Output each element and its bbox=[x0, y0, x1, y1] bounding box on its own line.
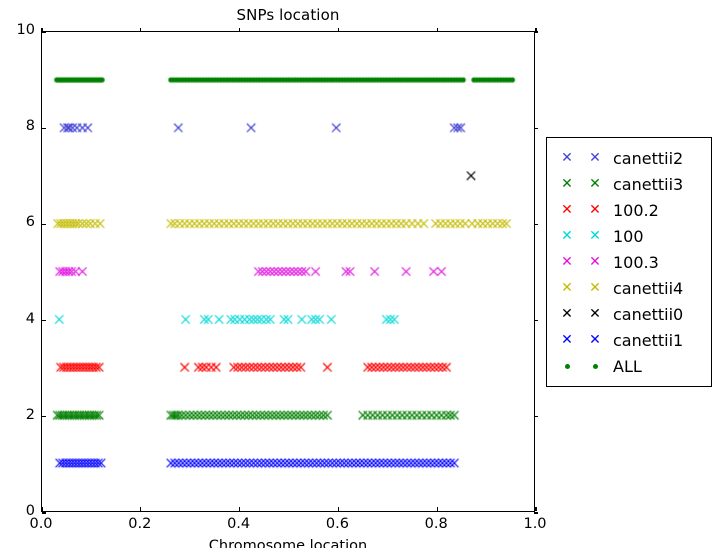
legend-item[interactable]: ✕✕100.2 bbox=[553, 197, 705, 223]
y-tick-label: 10 bbox=[1, 22, 35, 38]
x-tick-mark bbox=[535, 507, 536, 511]
legend-item[interactable]: ✕✕100.3 bbox=[553, 249, 705, 275]
x-tick-mark-top bbox=[41, 28, 42, 32]
y-tick-label: 2 bbox=[1, 407, 35, 423]
legend-cross-marker-icon: ✕ bbox=[589, 333, 601, 347]
x-tick-mark-top bbox=[535, 28, 536, 32]
y-tick-mark-right bbox=[534, 128, 538, 129]
y-tick-mark-right bbox=[534, 320, 538, 321]
x-tick-mark-top bbox=[437, 28, 438, 32]
legend-cross-marker-icon: ✕ bbox=[561, 151, 573, 165]
legend-item-label: canettii3 bbox=[609, 175, 683, 194]
legend-marker-group bbox=[553, 364, 609, 369]
legend-cross-marker-icon: ✕ bbox=[561, 229, 573, 243]
legend-item-label: 100 bbox=[609, 227, 644, 246]
legend-cross-marker-icon: ✕ bbox=[589, 177, 601, 191]
legend-cross-marker-icon: ✕ bbox=[561, 307, 573, 321]
legend-marker-group: ✕✕ bbox=[553, 177, 609, 191]
legend-marker-group: ✕✕ bbox=[553, 229, 609, 243]
x-tick-label: 1.0 bbox=[505, 516, 565, 532]
legend-cross-marker-icon: ✕ bbox=[589, 151, 601, 165]
x-tick-mark-top bbox=[140, 28, 141, 32]
legend-dot-marker-icon bbox=[565, 364, 570, 369]
figure-root: SNPs location 0246810 0.00.20.40.60.81.0… bbox=[0, 0, 718, 548]
legend-item[interactable]: ALL bbox=[553, 353, 705, 379]
y-tick-mark bbox=[42, 512, 46, 513]
legend-cross-marker-icon: ✕ bbox=[589, 307, 601, 321]
legend-box: ✕✕canettii2✕✕canettii3✕✕100.2✕✕100✕✕100.… bbox=[546, 137, 712, 387]
y-tick-label: 6 bbox=[1, 214, 35, 230]
x-tick-mark bbox=[437, 507, 438, 511]
page-title: SNPs location bbox=[41, 6, 535, 24]
y-tick-label: 4 bbox=[1, 311, 35, 327]
y-tick-mark bbox=[42, 224, 46, 225]
legend-item[interactable]: ✕✕canettii3 bbox=[553, 171, 705, 197]
legend-cross-marker-icon: ✕ bbox=[561, 177, 573, 191]
y-tick-label: 8 bbox=[1, 118, 35, 134]
x-tick-label: 0.8 bbox=[406, 516, 466, 532]
legend-marker-group: ✕✕ bbox=[553, 151, 609, 165]
x-tick-mark bbox=[140, 507, 141, 511]
legend-item-label: canettii0 bbox=[609, 305, 683, 324]
y-tick-mark-right bbox=[534, 224, 538, 225]
legend-cross-marker-icon: ✕ bbox=[561, 333, 573, 347]
x-tick-mark-top bbox=[338, 28, 339, 32]
legend-item[interactable]: ✕✕canettii1 bbox=[553, 327, 705, 353]
y-tick-mark bbox=[42, 128, 46, 129]
x-tick-mark bbox=[239, 507, 240, 511]
legend-cross-marker-icon: ✕ bbox=[589, 281, 601, 295]
legend-item[interactable]: ✕✕canettii0 bbox=[553, 301, 705, 327]
x-axis-label: Chromosome location bbox=[41, 538, 535, 548]
legend-item-label: 100.2 bbox=[609, 201, 659, 220]
x-tick-mark bbox=[338, 507, 339, 511]
x-tick-label: 0.2 bbox=[110, 516, 170, 532]
legend-item-label: canettii2 bbox=[609, 149, 683, 168]
legend-item-label: canettii4 bbox=[609, 279, 683, 298]
scatter-canvas bbox=[42, 32, 534, 511]
legend-cross-marker-icon: ✕ bbox=[589, 203, 601, 217]
plot-area bbox=[41, 31, 535, 512]
legend-marker-group: ✕✕ bbox=[553, 281, 609, 295]
legend-item-label: canettii1 bbox=[609, 331, 683, 350]
legend-cross-marker-icon: ✕ bbox=[561, 281, 573, 295]
legend-marker-group: ✕✕ bbox=[553, 307, 609, 321]
legend-marker-group: ✕✕ bbox=[553, 255, 609, 269]
x-tick-mark-top bbox=[239, 28, 240, 32]
legend-cross-marker-icon: ✕ bbox=[561, 255, 573, 269]
legend-dot-marker-icon bbox=[593, 364, 598, 369]
legend-item[interactable]: ✕✕100 bbox=[553, 223, 705, 249]
x-tick-mark bbox=[41, 507, 42, 511]
legend-marker-group: ✕✕ bbox=[553, 333, 609, 347]
legend-item-label: 100.3 bbox=[609, 253, 659, 272]
y-tick-mark-right bbox=[534, 416, 538, 417]
legend-cross-marker-icon: ✕ bbox=[589, 229, 601, 243]
legend-item-label: ALL bbox=[609, 357, 642, 376]
legend-cross-marker-icon: ✕ bbox=[561, 203, 573, 217]
y-tick-mark-right bbox=[534, 512, 538, 513]
x-tick-label: 0.6 bbox=[307, 516, 367, 532]
x-tick-label: 0.4 bbox=[209, 516, 269, 532]
y-tick-mark bbox=[42, 320, 46, 321]
x-tick-label: 0.0 bbox=[11, 516, 71, 532]
legend-item[interactable]: ✕✕canettii4 bbox=[553, 275, 705, 301]
legend-item[interactable]: ✕✕canettii2 bbox=[553, 145, 705, 171]
legend-cross-marker-icon: ✕ bbox=[589, 255, 601, 269]
y-tick-mark bbox=[42, 416, 46, 417]
legend-marker-group: ✕✕ bbox=[553, 203, 609, 217]
